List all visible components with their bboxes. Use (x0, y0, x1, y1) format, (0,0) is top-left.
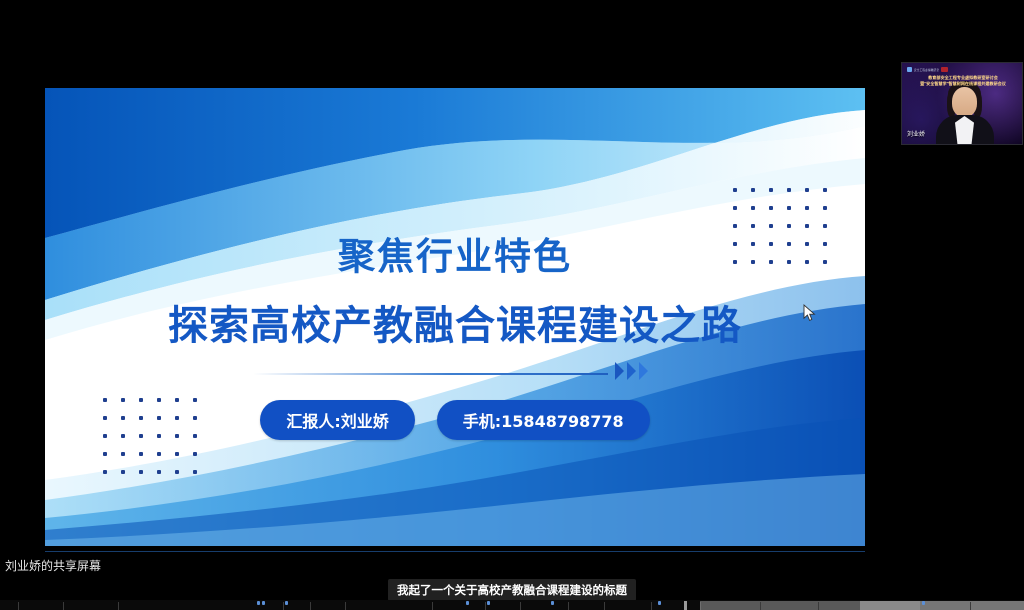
os-taskbar[interactable] (0, 600, 1024, 610)
logo-text: 安全工程虚拟教研室 (914, 68, 939, 72)
participant-video-tile[interactable]: 安全工程虚拟教研室 教育部安全工程专业虚拟教研室研讨会 暨"安全智慧学"智慧树网… (901, 62, 1023, 145)
share-screen-label: 刘业娇的共享屏幕 (5, 557, 101, 574)
slide-info-pills: 汇报人:刘业娇 手机:15848798778 (45, 400, 865, 440)
logo-red-block-icon (941, 67, 948, 72)
shared-slide[interactable]: 聚焦行业特色 探索高校产教融合课程建设之路 汇报人:刘业娇 手机:1584879… (45, 88, 865, 546)
chevron-accent-group (615, 362, 648, 380)
chevron-right-icon (639, 362, 648, 380)
participant-face (952, 87, 977, 117)
slide-title-line1: 聚焦行业特色 (45, 226, 865, 280)
share-area-divider (45, 551, 865, 552)
live-caption: 我起了一个关于高校产教融合课程建设的标题 (388, 579, 636, 601)
slide-title-block: 聚焦行业特色 探索高校产教融合课程建设之路 汇报人:刘业娇 手机:1584879… (45, 88, 865, 546)
phone-pill: 手机:15848798778 (437, 400, 650, 440)
event-logo: 安全工程虚拟教研室 (907, 67, 948, 72)
logo-mark-icon (907, 67, 912, 72)
slide-title-line2: 探索高校产教融合课程建设之路 (45, 293, 865, 351)
screen: 聚焦行业特色 探索高校产教融合课程建设之路 汇报人:刘业娇 手机:1584879… (0, 0, 1024, 610)
title-divider-rule (253, 373, 608, 375)
presenter-pill: 汇报人:刘业娇 (260, 400, 414, 440)
chevron-right-icon (627, 362, 636, 380)
participant-name-label: 刘业娇 (907, 129, 925, 138)
mouse-cursor (803, 304, 817, 322)
chevron-right-icon (615, 362, 624, 380)
event-banner-line2: 暨"安全智慧学"智慧树网在线课程共建教研会议 (905, 81, 1021, 87)
